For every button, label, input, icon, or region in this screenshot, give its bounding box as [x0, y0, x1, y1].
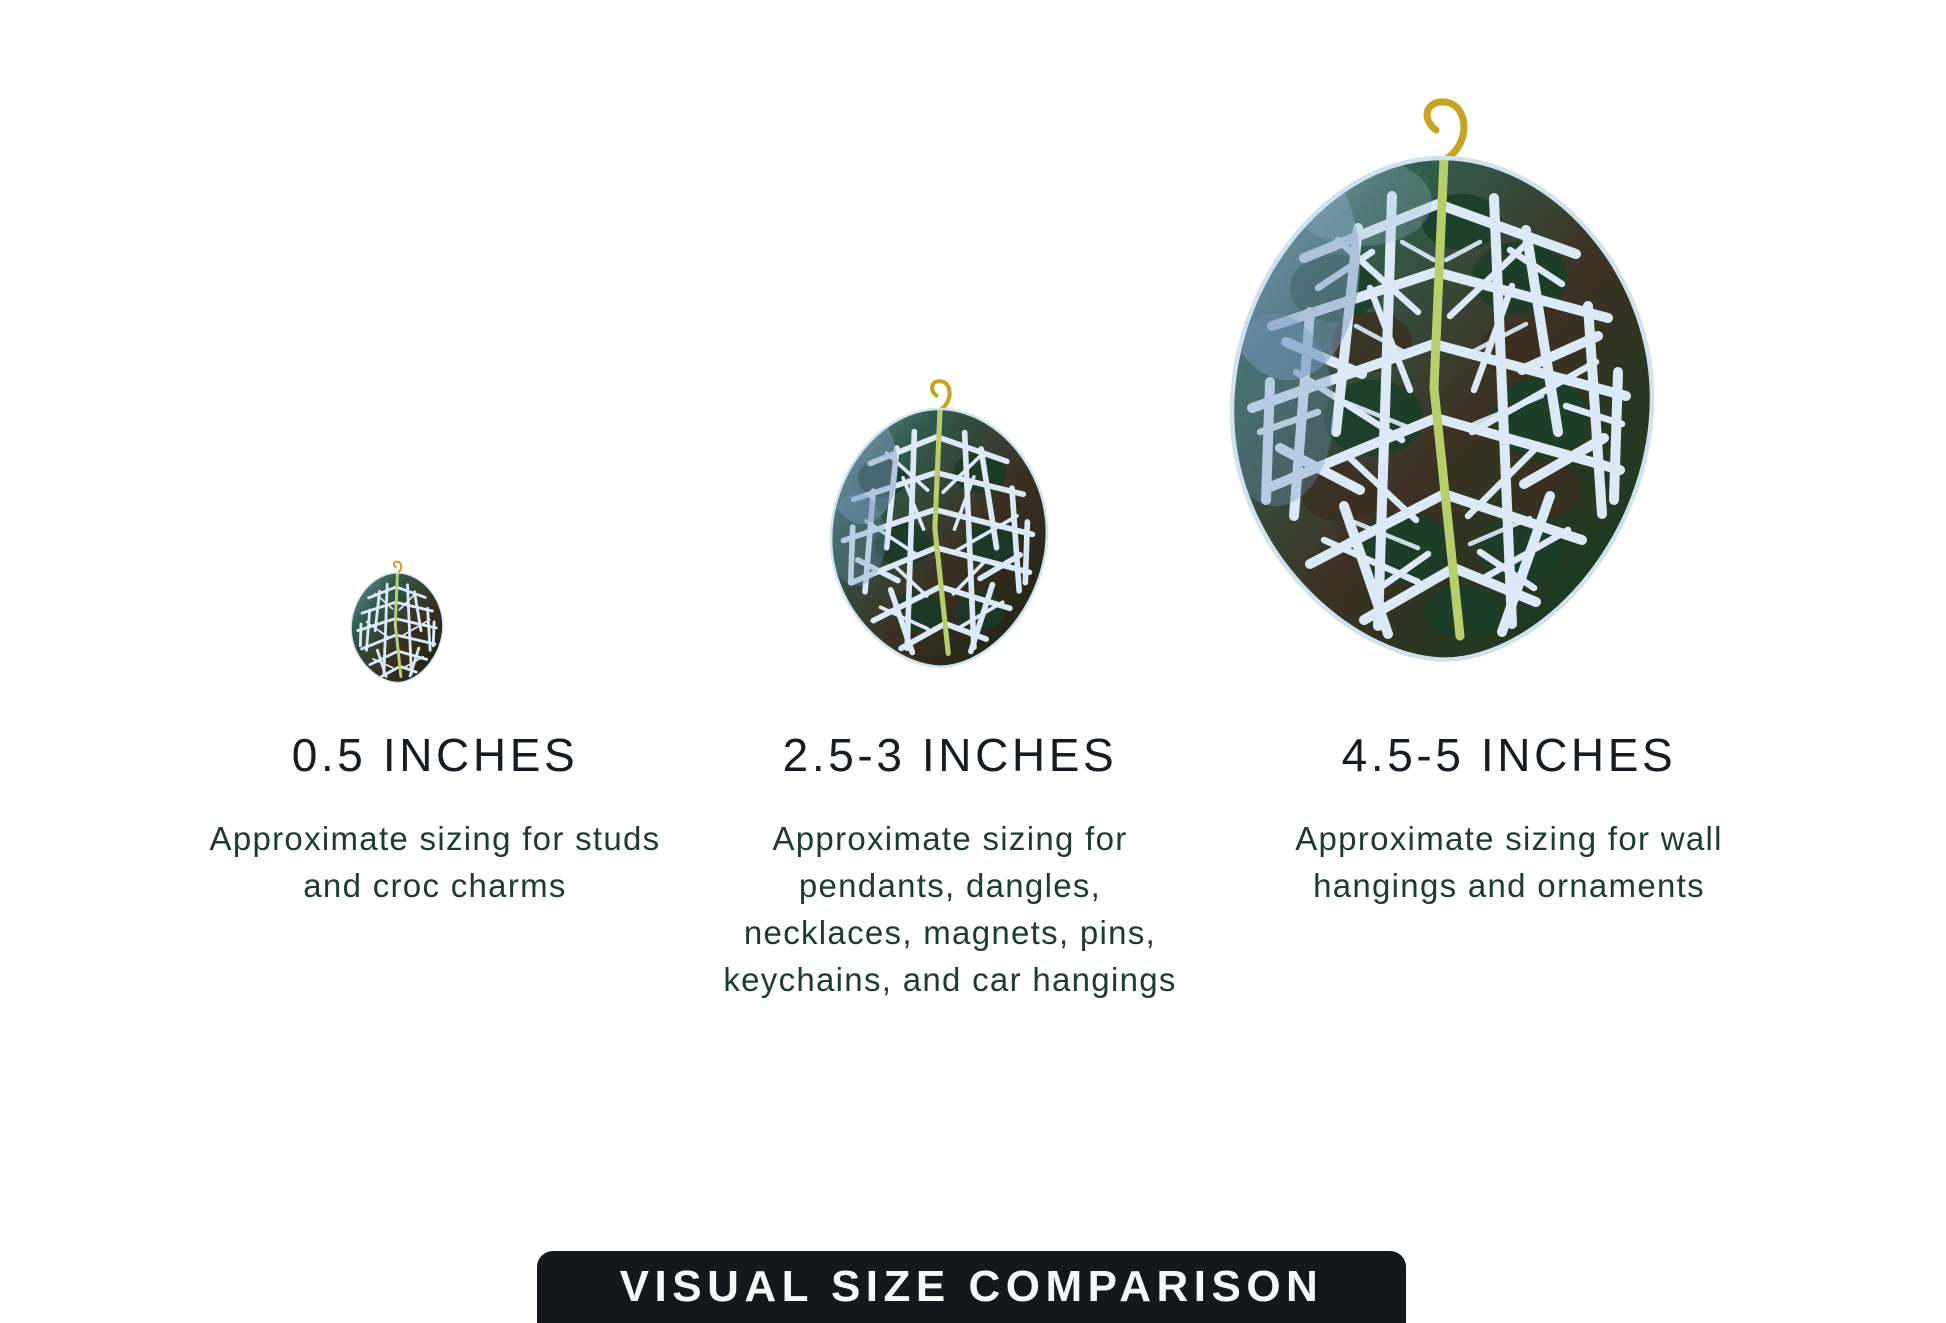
banner-label: VISUAL SIZE COMPARISON — [620, 1265, 1324, 1309]
size-heading-large: 4.5-5 INCHES — [1264, 732, 1754, 778]
size-heading-small: 0.5 INCHES — [200, 732, 670, 778]
size-heading-medium: 2.5-3 INCHES — [712, 732, 1188, 778]
leaf-pendant-icon-medium — [826, 372, 1052, 672]
leaf-pendant-icon-small — [349, 556, 445, 686]
size-column-small: 0.5 INCHES Approximate sizing for studs … — [200, 732, 670, 910]
size-comparison-graphic: 0.5 INCHES Approximate sizing for studs … — [0, 0, 1946, 1323]
leaf-pendant-icon-large — [1222, 92, 1662, 664]
size-column-large: 4.5-5 INCHES Approximate sizing for wall… — [1264, 732, 1754, 910]
size-description-medium: Approximate sizing for pendants, dangles… — [712, 816, 1188, 1003]
size-description-large: Approximate sizing for wall hangings and… — [1264, 816, 1754, 910]
size-column-medium: 2.5-3 INCHES Approximate sizing for pend… — [712, 732, 1188, 1003]
visual-size-comparison-banner: VISUAL SIZE COMPARISON — [537, 1251, 1406, 1323]
size-description-small: Approximate sizing for studs and croc ch… — [200, 816, 670, 910]
